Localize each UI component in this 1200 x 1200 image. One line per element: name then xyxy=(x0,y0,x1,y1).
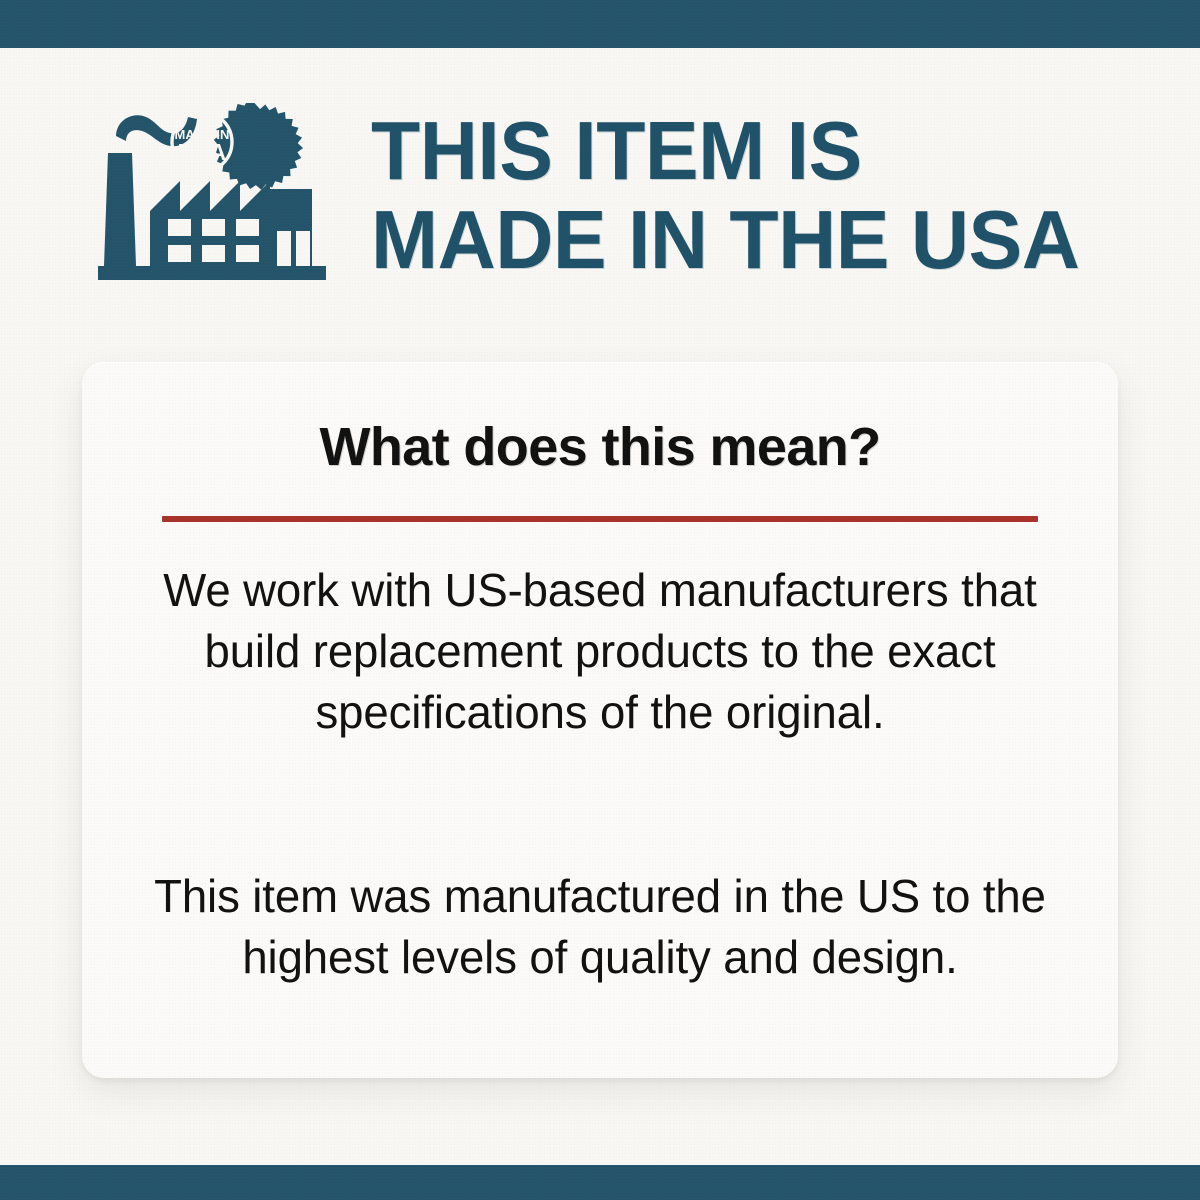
heading-divider xyxy=(162,516,1038,522)
bottom-accent-band xyxy=(0,1165,1200,1200)
info-card: What does this mean? We work with US-bas… xyxy=(82,362,1118,1078)
page-title: THIS ITEM IS MADE IN THE USA xyxy=(371,110,1200,281)
top-accent-band xyxy=(0,0,1200,48)
badge-line-2-text: USA xyxy=(178,139,227,165)
body-paragraph-1: We work with US-based manufacturers that… xyxy=(147,560,1054,744)
title-line-1: THIS ITEM IS xyxy=(371,110,1175,191)
card-body: We work with US-based manufacturers that… xyxy=(82,560,1118,988)
factory-icon: MADE IN USA xyxy=(98,103,353,288)
page-root: MADE IN USA THIS ITEM IS MADE IN THE USA… xyxy=(0,0,1200,1200)
header: MADE IN USA THIS ITEM IS MADE IN THE USA xyxy=(0,95,1200,295)
title-line-2: MADE IN THE USA xyxy=(371,199,1175,280)
made-in-usa-seal-icon: MADE IN USA xyxy=(172,103,303,190)
card-heading: What does this mean? xyxy=(82,362,1118,474)
body-paragraph-2: This item was manufactured in the US to … xyxy=(147,866,1054,988)
